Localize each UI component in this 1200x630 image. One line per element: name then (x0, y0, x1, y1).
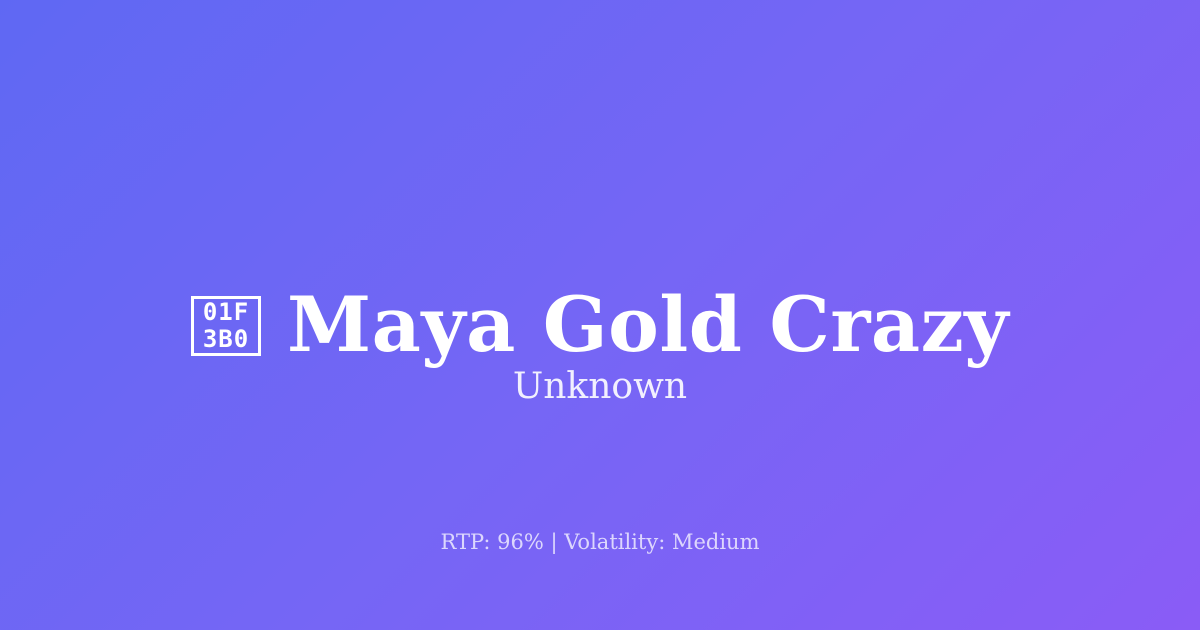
tofu-codepoint-upper: 01F (203, 300, 249, 324)
tofu-codepoint-lower: 3B0 (203, 327, 249, 351)
game-provider-subtitle: Unknown (0, 366, 1200, 408)
game-title: Maya Gold Crazy (287, 283, 1009, 367)
game-stats-line: RTP: 96% | Volatility: Medium (0, 530, 1200, 555)
slot-machine-emoji-icon: 01F 3B0 (191, 296, 261, 356)
game-preview-card: 01F 3B0 Maya Gold Crazy Unknown RTP: 96%… (0, 0, 1200, 630)
